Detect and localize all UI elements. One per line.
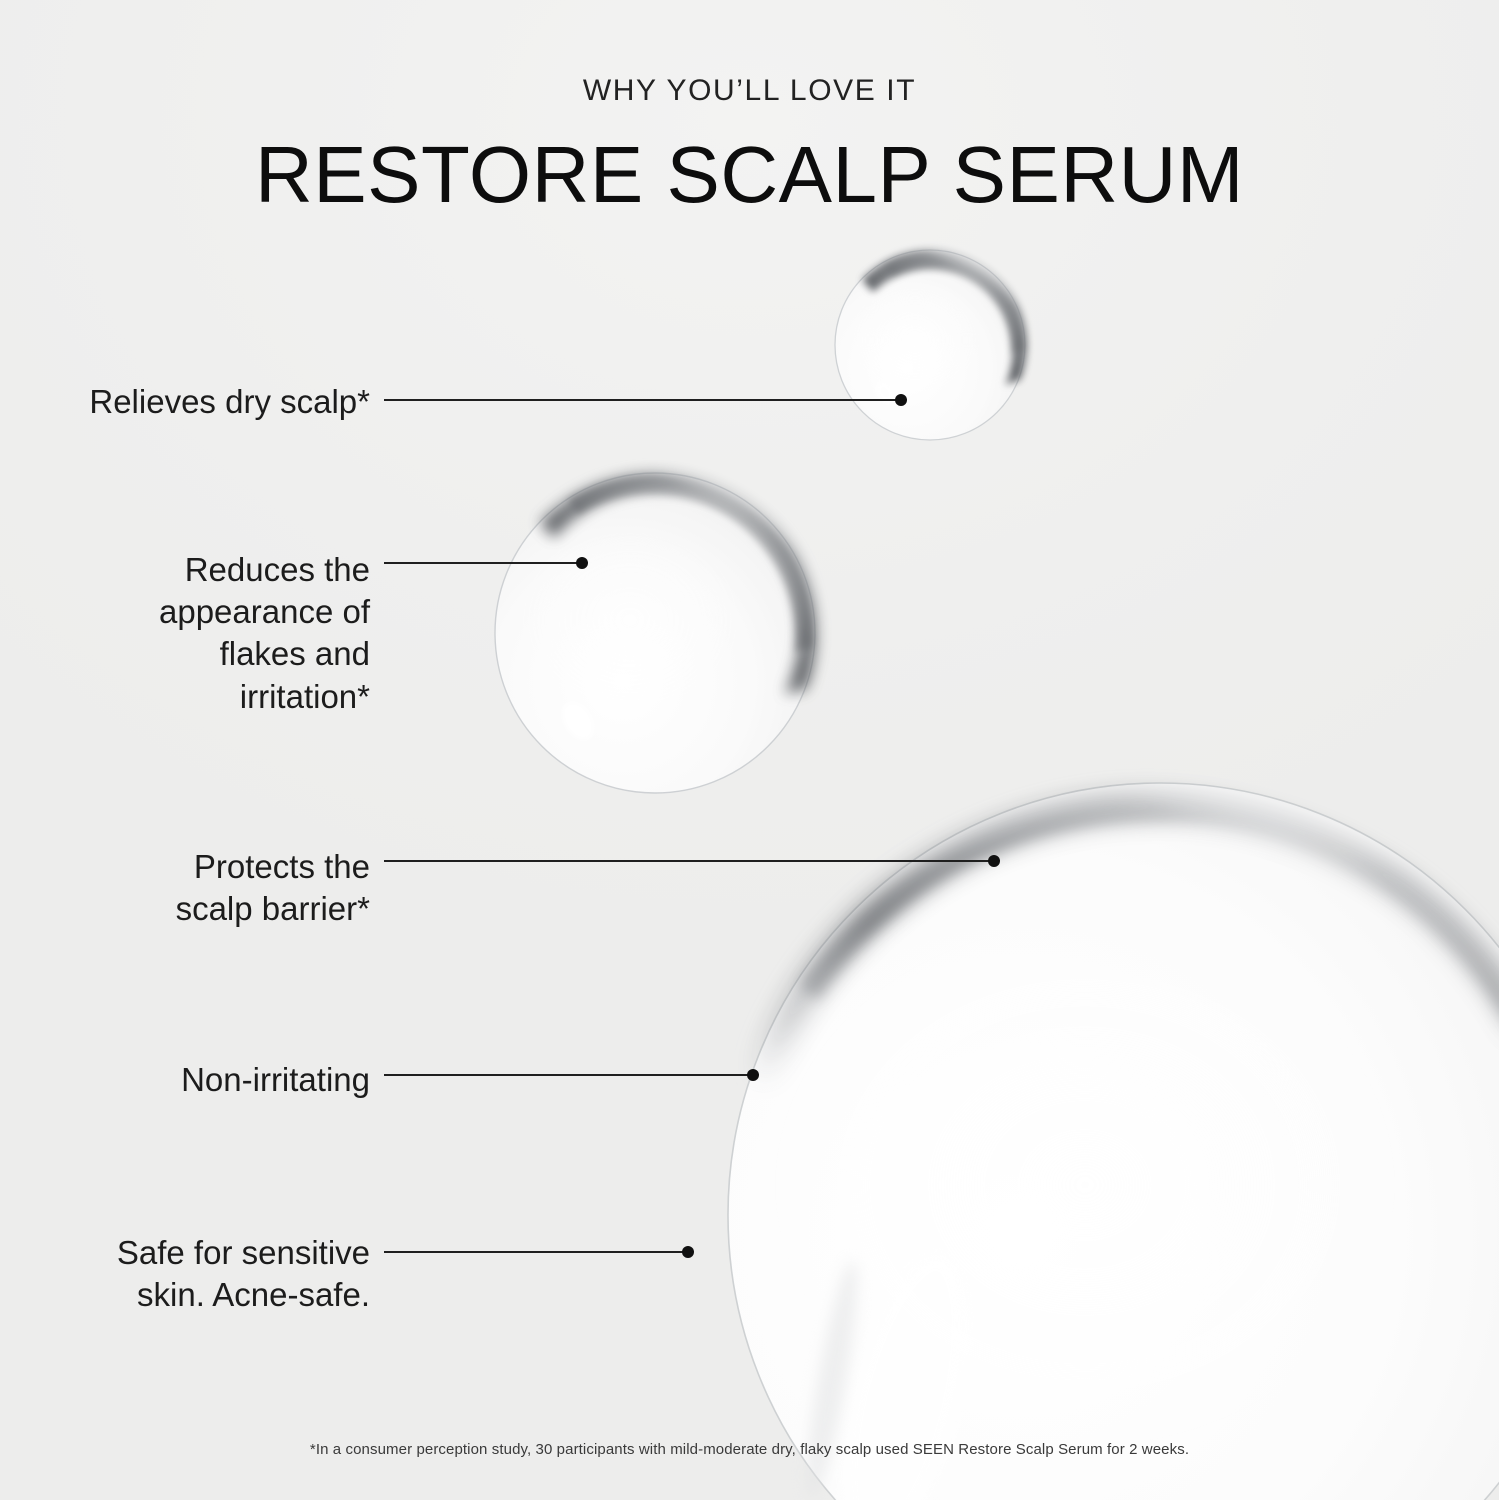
callout-label-reduces-flakes-irritation: Reduces the appearance of flakes and irr… [159,549,370,718]
callout-label-non-irritating: Non-irritating [181,1059,370,1101]
callout-label-relieves-dry-scalp: Relieves dry scalp* [89,381,370,423]
callout-label-protects-scalp-barrier: Protects the scalp barrier* [176,846,370,930]
product-benefits-infographic: WHY YOU’LL LOVE IT RESTORE SCALP SERUM R… [0,0,1499,1500]
callout-label-safe-sensitive-acne-safe: Safe for sensitive skin. Acne-safe. [117,1232,370,1316]
callout-label-list: Relieves dry scalp* Reduces the appearan… [0,0,1499,1500]
footnote-disclaimer: *In a consumer perception study, 30 part… [0,1441,1499,1458]
